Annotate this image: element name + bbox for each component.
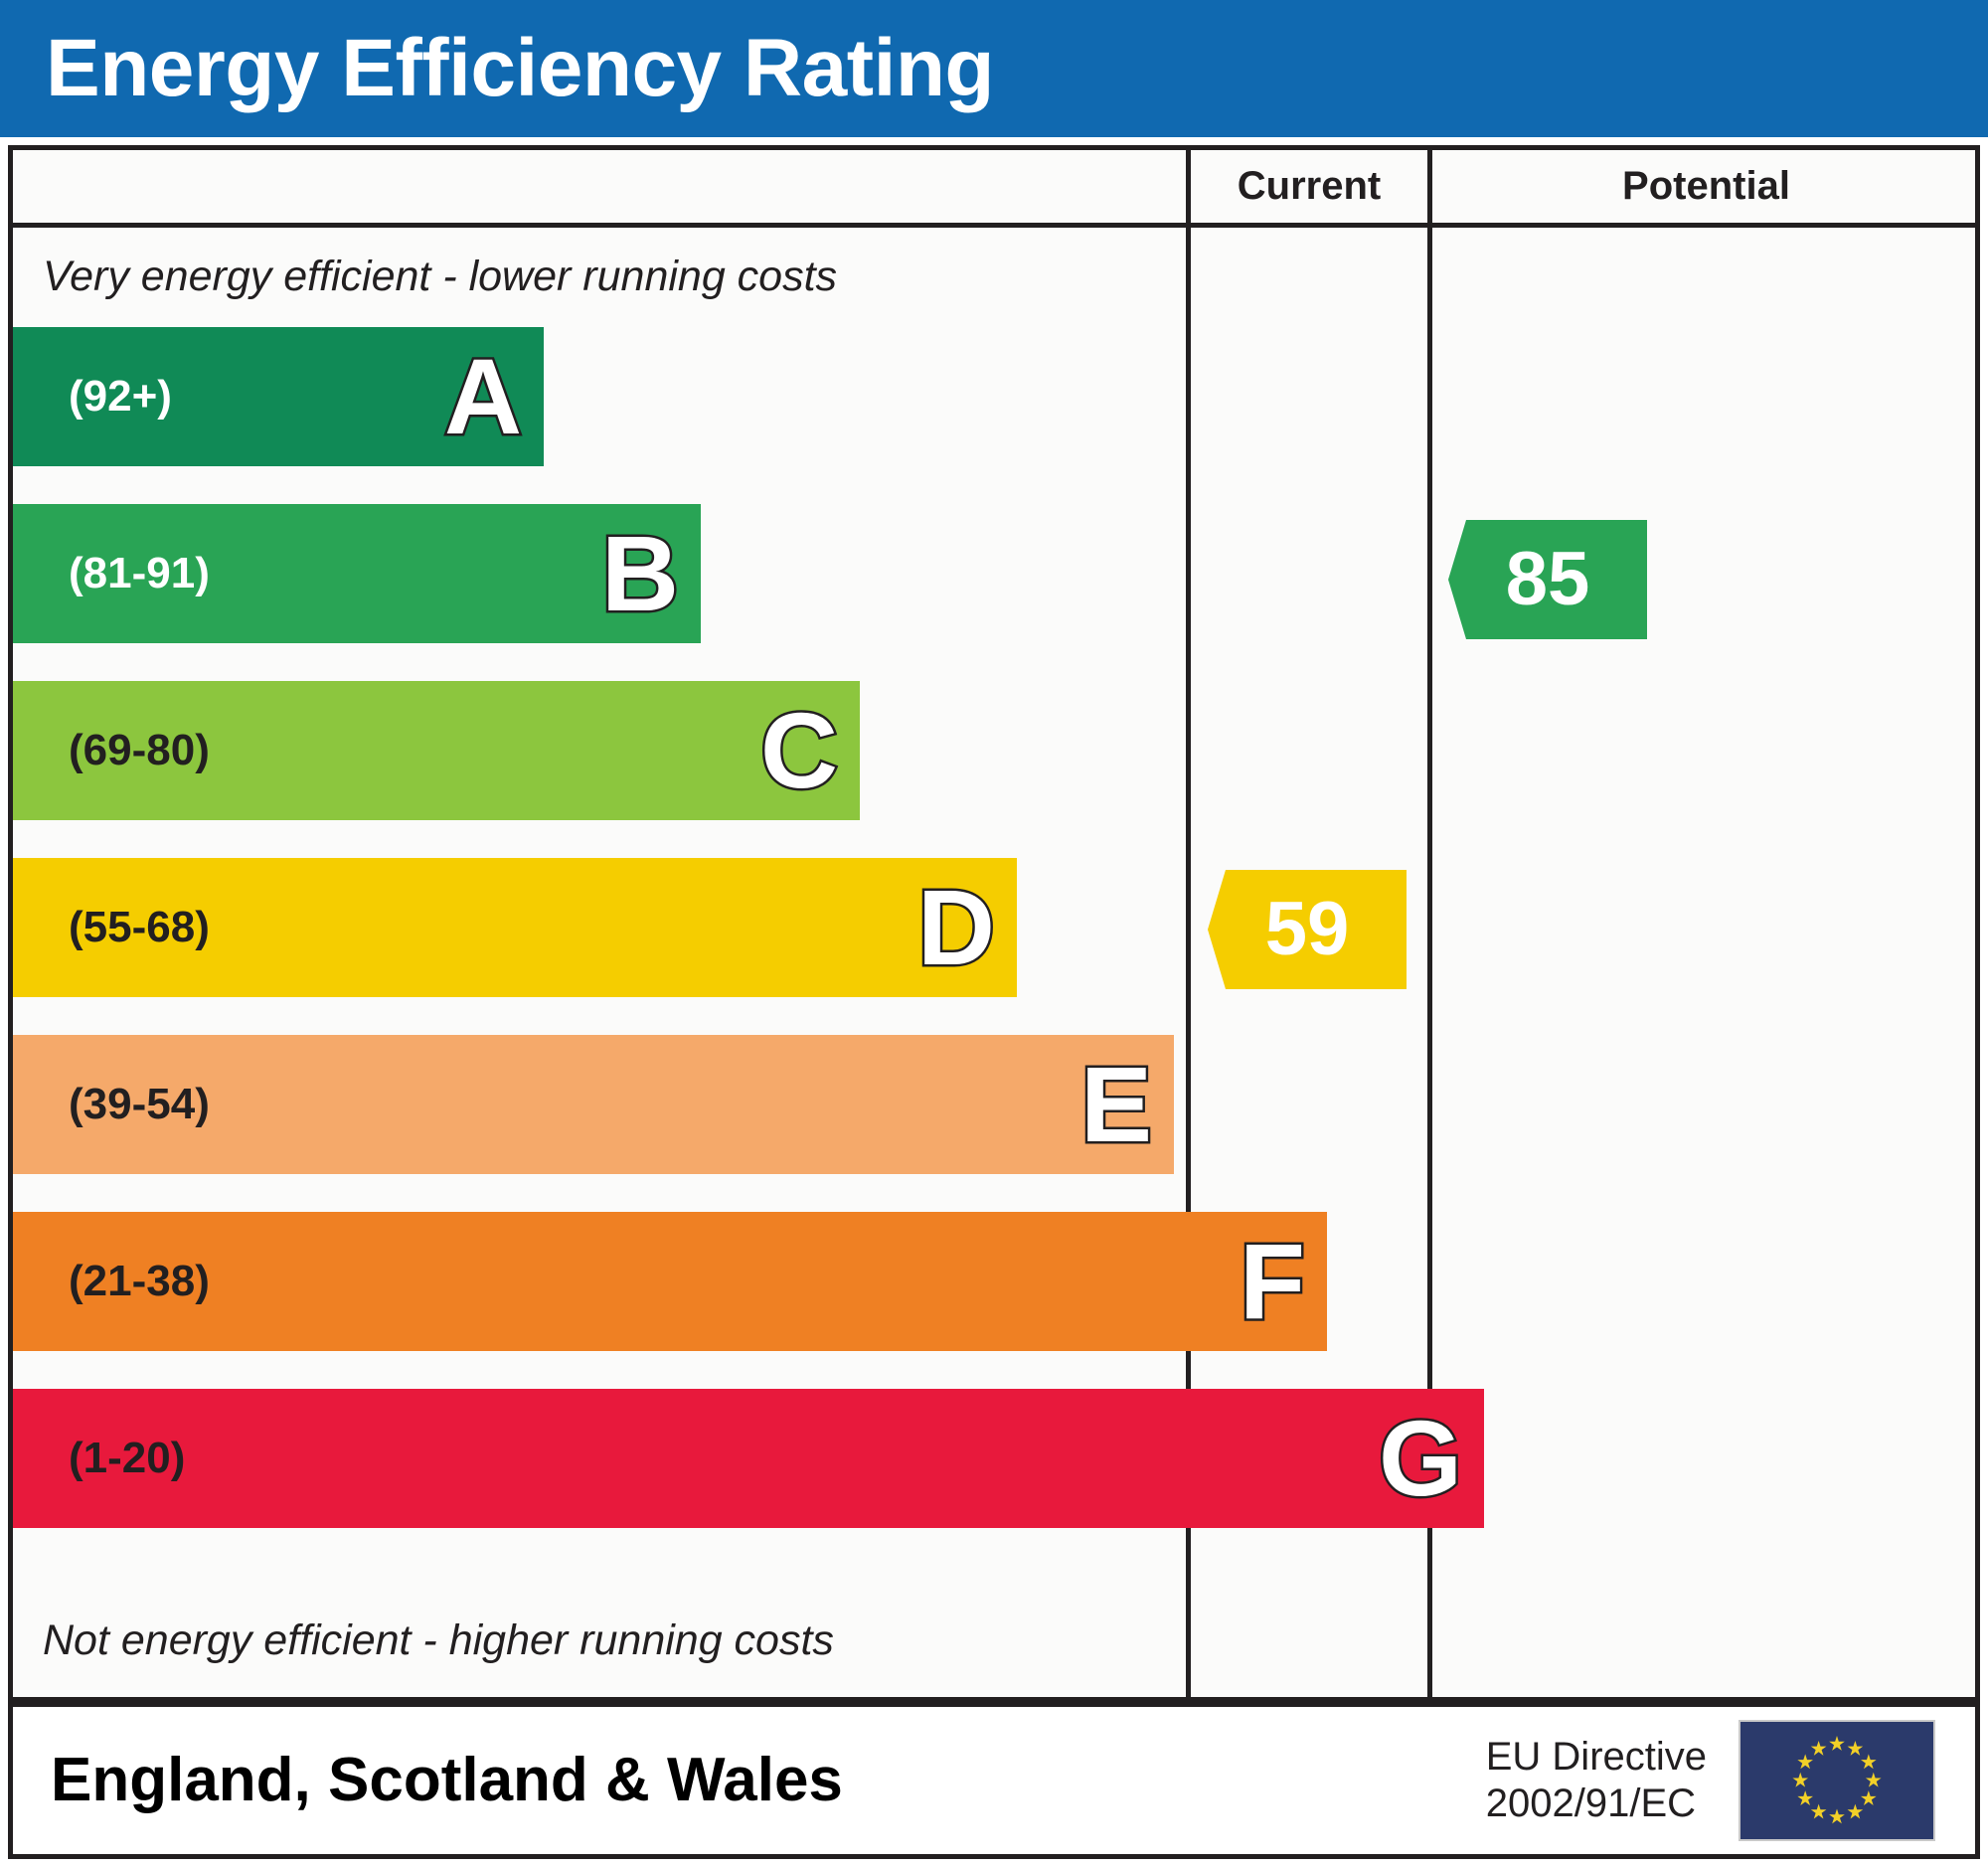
band-range-a: (92+) bbox=[69, 375, 172, 419]
eu-directive-line2: 2002/91/EC bbox=[1486, 1781, 1707, 1827]
page-title: Energy Efficiency Rating bbox=[46, 28, 994, 109]
band-letter-a: A bbox=[444, 343, 522, 450]
title-banner: Energy Efficiency Rating bbox=[0, 0, 1988, 137]
column-header-potential: Potential bbox=[1427, 150, 1980, 223]
band-letter-b: B bbox=[601, 520, 679, 627]
current-rating-badge: 59 bbox=[1208, 870, 1407, 989]
band-row-b: (81-91) B bbox=[13, 504, 701, 643]
band-row-d: (55-68) D bbox=[13, 858, 1017, 997]
band-row-e: (39-54) E bbox=[13, 1035, 1174, 1174]
chart-header-row: Current Potential bbox=[13, 150, 1975, 228]
band-range-f: (21-38) bbox=[69, 1260, 210, 1303]
band-range-b: (81-91) bbox=[69, 552, 210, 595]
eu-flag-icon bbox=[1739, 1720, 1935, 1841]
band-range-e: (39-54) bbox=[69, 1083, 210, 1126]
band-range-g: (1-20) bbox=[69, 1437, 185, 1480]
band-letter-g: G bbox=[1379, 1405, 1462, 1512]
band-letter-f: F bbox=[1240, 1228, 1305, 1335]
column-header-current: Current bbox=[1186, 150, 1427, 223]
potential-rating-badge: 85 bbox=[1448, 520, 1647, 639]
potential-rating-value: 85 bbox=[1506, 542, 1590, 617]
band-row-c: (69-80) C bbox=[13, 681, 860, 820]
band-letter-c: C bbox=[760, 697, 838, 804]
caption-efficient: Very energy efficient - lower running co… bbox=[43, 255, 837, 298]
band-range-d: (55-68) bbox=[69, 906, 210, 949]
band-range-c: (69-80) bbox=[69, 729, 210, 772]
chart-footer: England, Scotland & Wales EU Directive 2… bbox=[8, 1702, 1980, 1859]
band-row-g: (1-20) G bbox=[13, 1389, 1484, 1528]
band-row-a: (92+) A bbox=[13, 327, 544, 466]
band-letter-e: E bbox=[1080, 1051, 1152, 1158]
eu-directive-label: EU Directive 2002/91/EC bbox=[1486, 1734, 1707, 1827]
rating-chart: Current Potential Very energy efficient … bbox=[8, 145, 1980, 1702]
caption-inefficient: Not energy efficient - higher running co… bbox=[43, 1619, 834, 1662]
region-label: England, Scotland & Wales bbox=[51, 1750, 843, 1811]
band-letter-d: D bbox=[917, 874, 995, 981]
band-row-f: (21-38) F bbox=[13, 1212, 1327, 1351]
bands-area: Very energy efficient - lower running co… bbox=[13, 228, 1181, 1702]
current-rating-value: 59 bbox=[1265, 892, 1350, 967]
eu-directive-line1: EU Directive bbox=[1486, 1734, 1707, 1781]
